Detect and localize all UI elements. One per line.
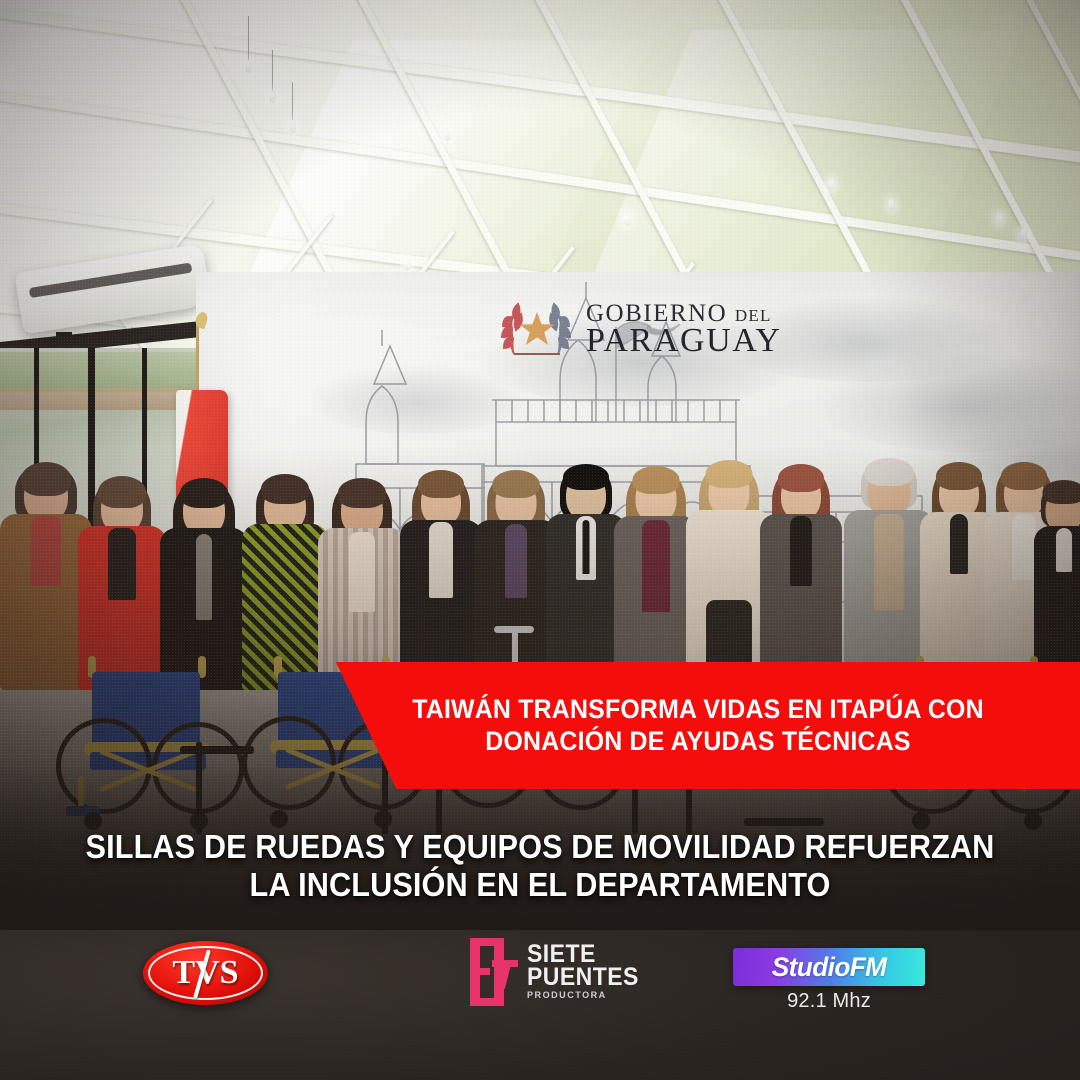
light-wire xyxy=(248,16,249,62)
gobierno-del-paraguay-logo: GOBIERNO DEL PARAGUAY xyxy=(500,296,781,362)
light-wire xyxy=(272,50,273,92)
social-media-poster: GOBIERNO DEL PARAGUAY xyxy=(0,0,1080,1080)
light-wire xyxy=(292,82,293,122)
siete-puentes-line3: PRODUCTORA xyxy=(527,992,643,1001)
siete-puentes-bridge-icon xyxy=(470,938,518,1006)
hanging-light xyxy=(289,120,296,133)
chair-leg xyxy=(196,742,202,834)
siete-puentes-logo[interactable]: SIETE PUENTES PRODUCTORA xyxy=(470,938,649,1006)
ac-vent xyxy=(29,263,193,299)
subheadline-line-1: SILLAS DE RUEDAS Y EQUIPOS DE MOVILIDAD … xyxy=(38,828,1042,866)
tvs-logo[interactable]: TVS xyxy=(143,941,268,1005)
gobierno-logo-text: GOBIERNO DEL PARAGUAY xyxy=(586,302,781,356)
hanging-light xyxy=(624,213,631,226)
outdoor-greenery xyxy=(0,352,198,392)
hanging-light xyxy=(888,198,895,211)
hanging-light xyxy=(828,178,835,191)
outdoor-ground xyxy=(0,388,198,410)
studiofm-frequency: 92.1 Mhz xyxy=(733,990,925,1013)
gov-logo-line2: PARAGUAY xyxy=(586,325,781,356)
subheadline: SILLAS DE RUEDAS Y EQUIPOS DE MOVILIDAD … xyxy=(38,828,1042,904)
subheadline-line-2: LA INCLUSIÓN EN EL DEPARTAMENTO xyxy=(38,866,1042,904)
hanging-light xyxy=(245,60,252,73)
siete-puentes-line2: PUENTES xyxy=(527,966,639,989)
hanging-light xyxy=(996,212,1003,225)
wheelchair xyxy=(60,656,236,826)
studiofm-logo[interactable]: StudioFM 92.1 Mhz xyxy=(733,948,925,1013)
hanging-light xyxy=(404,258,411,271)
headline-line-2: DONACIÓN DE AYUDAS TÉCNICAS xyxy=(485,726,910,758)
person xyxy=(1034,476,1080,682)
siete-puentes-text: SIETE PUENTES PRODUCTORA xyxy=(527,943,649,1001)
person xyxy=(760,452,842,690)
chair-seat xyxy=(180,746,254,754)
headline-line-1: TAIWÁN TRANSFORMA VIDAS EN ITAPÚA CON xyxy=(412,694,984,726)
headline-banner-text: TAIWÁN TRANSFORMA VIDAS EN ITAPÚA CON DO… xyxy=(339,662,1057,789)
studiofm-logo-text: StudioFM xyxy=(772,952,887,983)
studiofm-logo-pill: StudioFM xyxy=(733,948,925,986)
event-photograph: GOBIERNO DEL PARAGUAY xyxy=(0,0,1080,930)
chair-seat xyxy=(744,818,824,826)
hanging-light xyxy=(444,128,451,141)
hanging-light xyxy=(1020,228,1027,241)
hanging-light xyxy=(269,90,276,103)
coat-of-arms-wreath xyxy=(500,296,574,362)
